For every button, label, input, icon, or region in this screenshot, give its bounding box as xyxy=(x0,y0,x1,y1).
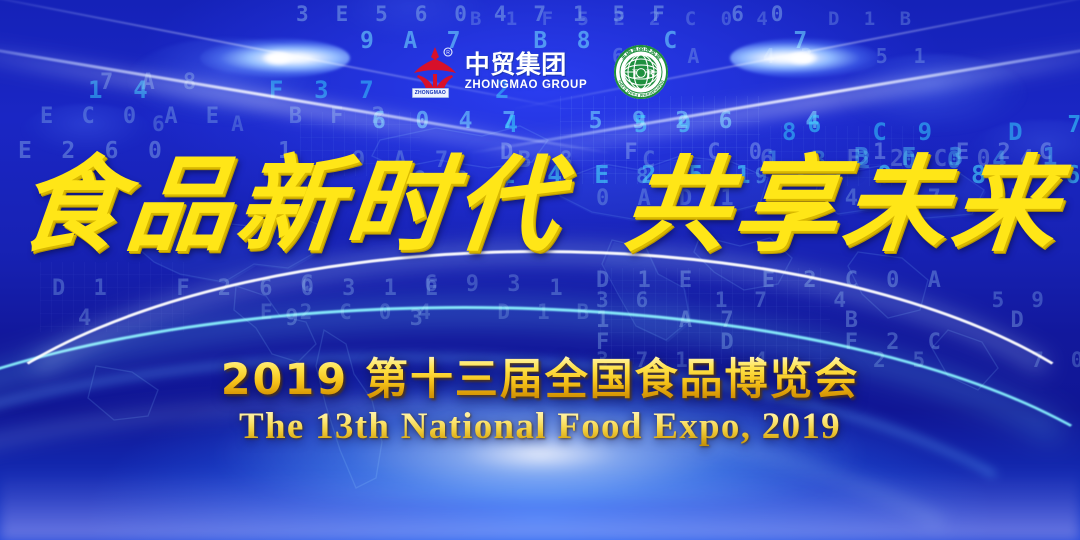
svg-text:B: B xyxy=(646,66,655,81)
logo-national-food-expo: E B 全国食品博览会 International Food Expo xyxy=(613,44,669,100)
bottom-pink-haze xyxy=(0,470,1080,540)
zhongmao-name-cn: 中贸集团 xyxy=(465,52,588,77)
slogan-part-1: 食品新时代 xyxy=(12,150,570,260)
subtitle-chinese: 2019 第十三届全国食品博览会 xyxy=(0,345,1080,407)
zhongmao-text: 中贸集团 ZHONGMAO GROUP xyxy=(465,52,588,92)
zhongmao-mark-icon: R ZHONGMAO xyxy=(411,46,459,98)
pixel-grid-patch xyxy=(40,262,190,332)
subtitle-chinese-text: 2019 第十三届全国食品博览会 xyxy=(221,355,860,405)
logo-row: R ZHONGMAO 中贸集团 ZHONGMAO GROUP xyxy=(0,44,1080,100)
zhongmao-badge-label: ZHONGMAO xyxy=(412,88,449,98)
subtitle-english: The 13th National Food Expo, 2019 xyxy=(0,405,1080,448)
logo-zhongmao-group: R ZHONGMAO 中贸集团 ZHONGMAO GROUP xyxy=(411,46,588,98)
zhongmao-name-en: ZHONGMAO GROUP xyxy=(465,80,588,92)
food-expo-banner: 3 E 5 6 0 4 7 1 5 F 6 09 A 7 B 8 C 7B 1 … xyxy=(0,0,1080,540)
main-slogan: 食品新时代 共享未来 xyxy=(0,150,1080,260)
slogan-part-2: 共享未来 xyxy=(619,150,1067,260)
subtitle-english-text: The 13th National Food Expo, 2019 xyxy=(239,406,841,447)
svg-text:R: R xyxy=(446,50,450,56)
